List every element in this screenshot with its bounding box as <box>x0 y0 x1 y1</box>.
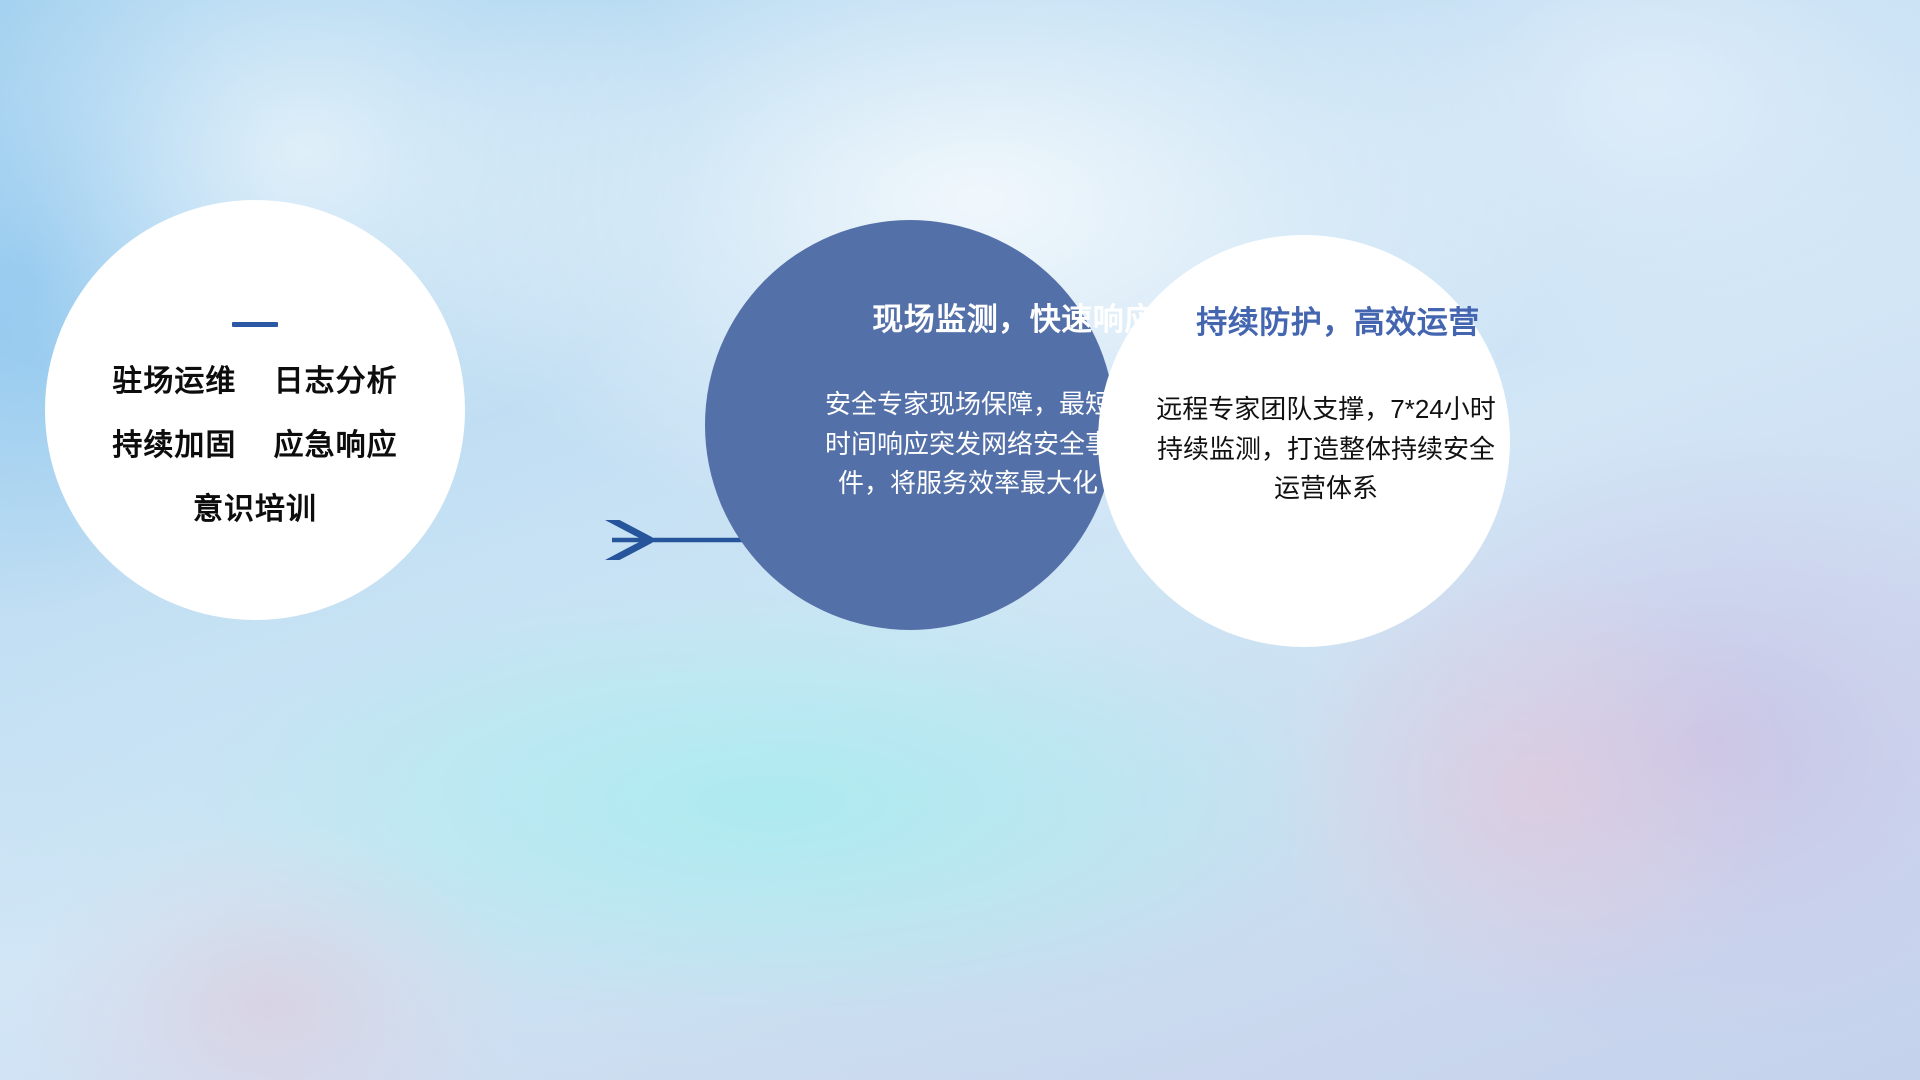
middle-feature-circle: 现场监测，快速响应 安全专家现场保障，最短时间响应突发网络安全事件，将服务效率最… <box>705 220 1115 630</box>
right-circle-heading: 持续防护，高效运营 <box>1196 297 1480 342</box>
left-circle-line-2: 持续加固 应急响应 <box>112 431 397 461</box>
right-feature-circle: 持续防护，高效运营 远程专家团队支撑，7*24小时持续监测，打造整体持续安全运营… <box>1098 235 1510 647</box>
left-capability-circle: 驻场运维 日志分析 持续加固 应急响应 意识培训 <box>45 200 465 620</box>
left-circle-content: 驻场运维 日志分析 持续加固 应急响应 意识培训 <box>45 200 465 620</box>
slide-canvas: 驻场运维 日志分析 持续加固 应急响应 意识培训 现场监测，快速响应 安全专家现… <box>0 0 1920 1080</box>
right-circle-body: 远程专家团队支撑，7*24小时持续监测，打造整体持续安全运营体系 <box>1150 390 1502 509</box>
right-circle-content: 持续防护，高效运营 远程专家团队支撑，7*24小时持续监测，打造整体持续安全运营… <box>1098 235 1510 647</box>
background-blob-pink-left <box>19 821 518 1080</box>
left-circle-line-3: 意识培训 <box>193 495 317 525</box>
left-divider-rule <box>232 322 278 327</box>
left-circle-line-1: 驻场运维 日志分析 <box>112 367 397 397</box>
middle-circle-content: 现场监测，快速响应 安全专家现场保障，最短时间响应突发网络安全事件，将服务效率最… <box>705 220 1115 630</box>
middle-circle-body: 安全专家现场保障，最短时间响应突发网络安全事件，将服务效率最大化 <box>823 385 1113 504</box>
